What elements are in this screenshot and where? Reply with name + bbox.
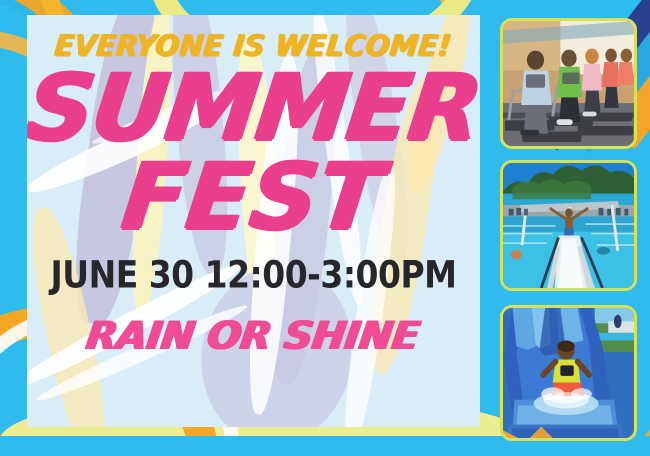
photo-outdoor-pool	[500, 160, 637, 291]
water-slide-illustration	[503, 308, 634, 438]
weather-note: RAIN OR SHINE	[84, 314, 423, 359]
title-line-fest: FEST	[120, 159, 388, 234]
title-line-summer: SUMMER	[27, 70, 480, 145]
poster-text-stack: EVERYONE IS WELCOME! SUMMER FEST JUNE 30…	[27, 15, 480, 427]
summer-fest-poster: EVERYONE IS WELCOME! SUMMER FEST JUNE 30…	[0, 0, 650, 456]
poster-content-panel: EVERYONE IS WELCOME! SUMMER FEST JUNE 30…	[27, 15, 480, 427]
event-datetime: JUNE 30 12:00-3:00PM	[51, 253, 457, 297]
outdoor-pool-illustration	[503, 163, 634, 288]
photo-water-slide	[500, 305, 637, 441]
gym-treadmills-illustration	[503, 21, 634, 146]
photo-gym-treadmills	[500, 18, 637, 149]
